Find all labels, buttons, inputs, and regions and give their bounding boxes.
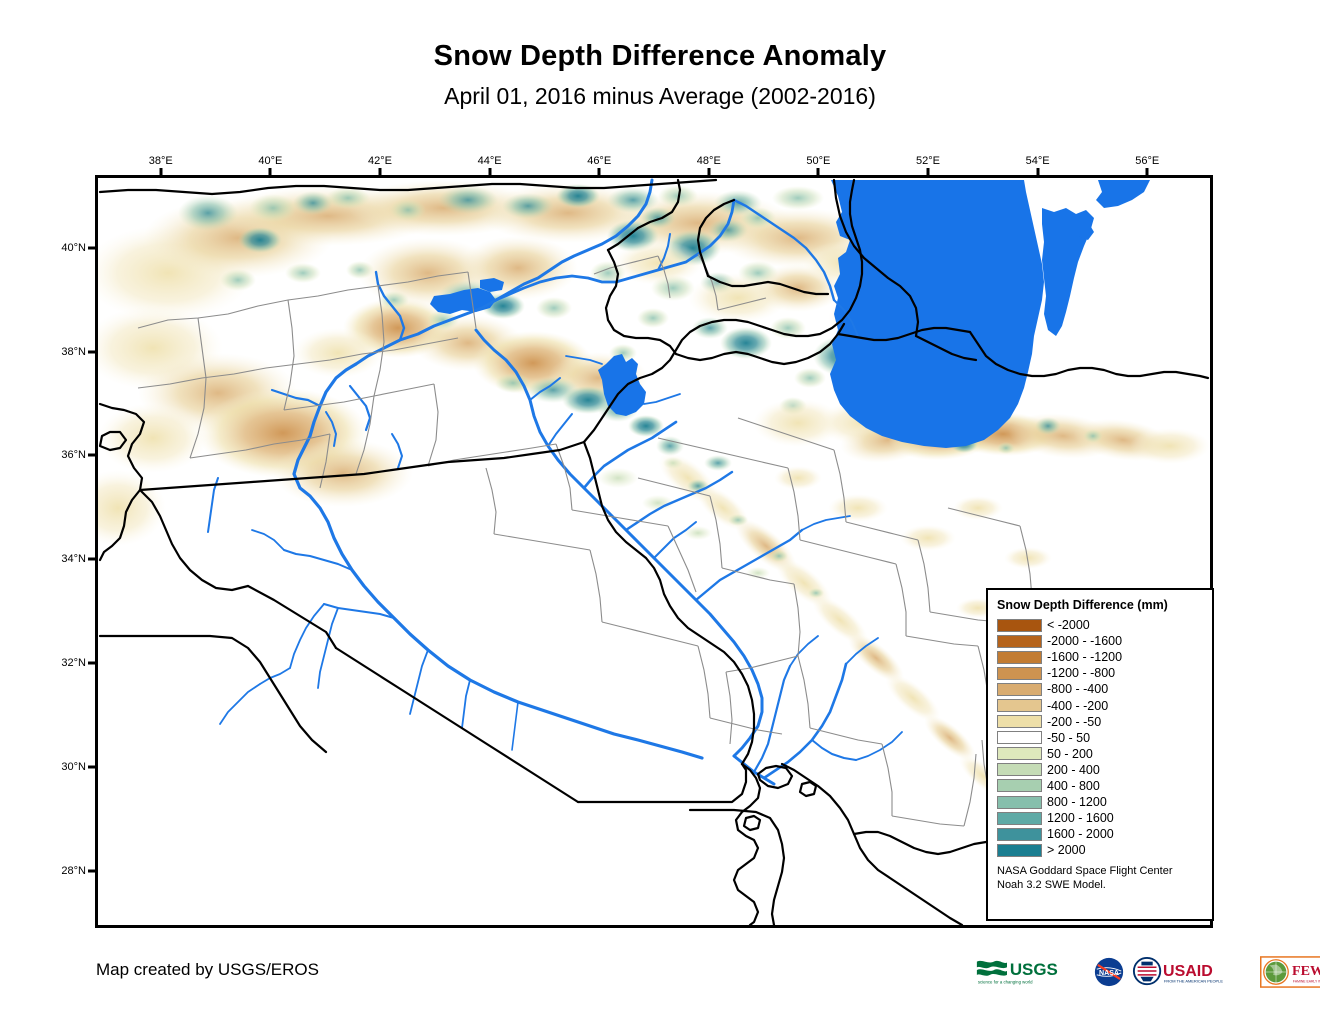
legend-entry: -200 - -50 bbox=[997, 714, 1203, 730]
legend-entry: 400 - 800 bbox=[997, 778, 1203, 794]
legend-label: -200 - -50 bbox=[1047, 715, 1101, 729]
longitude-tick-mark bbox=[1146, 168, 1149, 177]
latitude-tick-label: 30°N bbox=[48, 761, 86, 773]
longitude-tick-mark bbox=[707, 168, 710, 177]
latitude-tick-label: 32°N bbox=[48, 657, 86, 669]
legend-label: 1200 - 1600 bbox=[1047, 811, 1114, 825]
longitude-tick-mark bbox=[378, 168, 381, 177]
legend-entry: < -2000 bbox=[997, 617, 1203, 633]
legend-swatch bbox=[997, 731, 1042, 744]
legend-label: -400 - -200 bbox=[1047, 699, 1108, 713]
legend-swatch bbox=[997, 796, 1042, 809]
legend-label: -2000 - -1600 bbox=[1047, 634, 1122, 648]
latitude-tick-mark bbox=[88, 350, 97, 353]
legend-label: -1600 - -1200 bbox=[1047, 650, 1122, 664]
latitude-tick-mark bbox=[88, 246, 97, 249]
longitude-tick-mark bbox=[1036, 168, 1039, 177]
latitude-tick-label: 36°N bbox=[48, 449, 86, 461]
legend-footnote: NASA Goddard Space Flight Center Noah 3.… bbox=[997, 865, 1203, 893]
page-subtitle: April 01, 2016 minus Average (2002-2016) bbox=[0, 83, 1320, 109]
legend-label: > 2000 bbox=[1047, 843, 1086, 857]
usgs-logo[interactable]: USGS science for a changing world bbox=[975, 956, 1086, 988]
legend-entry: > 2000 bbox=[997, 842, 1203, 858]
legend-entry: 1200 - 1600 bbox=[997, 810, 1203, 826]
longitude-tick-mark bbox=[488, 168, 491, 177]
fewsnet-logo[interactable]: FEWS NET FAMINE EARLY WARNING SYSTEMS NE… bbox=[1260, 956, 1320, 988]
legend-label: -1200 - -800 bbox=[1047, 666, 1115, 680]
legend-title: Snow Depth Difference (mm) bbox=[997, 598, 1203, 612]
logo-bar: USGS science for a changing world NASA U… bbox=[975, 955, 1320, 989]
legend-swatch bbox=[997, 619, 1042, 632]
legend-swatch bbox=[997, 828, 1042, 841]
longitude-tick-label: 48°E bbox=[697, 155, 721, 167]
legend-entry: 1600 - 2000 bbox=[997, 826, 1203, 842]
legend-swatch bbox=[997, 779, 1042, 792]
nasa-logo-text: NASA bbox=[1099, 970, 1119, 977]
longitude-tick-label: 46°E bbox=[587, 155, 611, 167]
legend-label: 1600 - 2000 bbox=[1047, 827, 1114, 841]
legend-label: -800 - -400 bbox=[1047, 682, 1108, 696]
legend-entry: 800 - 1200 bbox=[997, 794, 1203, 810]
legend-footnote-line1: NASA Goddard Space Flight Center bbox=[997, 865, 1203, 879]
legend-entry: -800 - -400 bbox=[997, 681, 1203, 697]
longitude-tick-label: 42°E bbox=[368, 155, 392, 167]
nasa-logo[interactable]: NASA bbox=[1093, 956, 1125, 988]
map-credit: Map created by USGS/EROS bbox=[96, 960, 319, 980]
legend-entry: -400 - -200 bbox=[997, 697, 1203, 713]
title-block: Snow Depth Difference Anomaly April 01, … bbox=[0, 40, 1320, 110]
legend-swatch bbox=[997, 635, 1042, 648]
legend-entry-list: < -2000-2000 - -1600-1600 - -1200-1200 -… bbox=[997, 617, 1203, 858]
legend-swatch bbox=[997, 715, 1042, 728]
longitude-tick-mark bbox=[598, 168, 601, 177]
legend-label: 800 - 1200 bbox=[1047, 795, 1107, 809]
legend-entry: 50 - 200 bbox=[997, 746, 1203, 762]
legend-swatch bbox=[997, 812, 1042, 825]
legend-swatch bbox=[997, 844, 1042, 857]
longitude-tick-mark bbox=[159, 168, 162, 177]
longitude-tick-label: 50°E bbox=[806, 155, 830, 167]
latitude-tick-label: 40°N bbox=[48, 242, 86, 254]
longitude-tick-label: 52°E bbox=[916, 155, 940, 167]
longitude-tick-mark bbox=[269, 168, 272, 177]
longitude-tick-mark bbox=[817, 168, 820, 177]
longitude-tick-label: 54°E bbox=[1026, 155, 1050, 167]
legend-entry: -50 - 50 bbox=[997, 730, 1203, 746]
map-legend: Snow Depth Difference (mm) < -2000-2000 … bbox=[986, 588, 1214, 921]
legend-entry: -2000 - -1600 bbox=[997, 633, 1203, 649]
longitude-tick-label: 56°E bbox=[1135, 155, 1159, 167]
legend-swatch bbox=[997, 699, 1042, 712]
usgs-logo-text: USGS bbox=[1010, 960, 1058, 979]
legend-swatch bbox=[997, 651, 1042, 664]
longitude-tick-mark bbox=[927, 168, 930, 177]
usaid-logo[interactable]: USAID FROM THE AMERICAN PEOPLE bbox=[1132, 956, 1252, 988]
legend-entry: -1200 - -800 bbox=[997, 665, 1203, 681]
legend-label: 50 - 200 bbox=[1047, 747, 1093, 761]
latitude-tick-label: 34°N bbox=[48, 553, 86, 565]
legend-label: < -2000 bbox=[1047, 618, 1090, 632]
latitude-tick-mark bbox=[88, 662, 97, 665]
usgs-logo-tagline: science for a changing world bbox=[978, 979, 1033, 984]
latitude-tick-mark bbox=[88, 766, 97, 769]
latitude-tick-label: 38°N bbox=[48, 346, 86, 358]
legend-label: -50 - 50 bbox=[1047, 731, 1090, 745]
fewsnet-logo-text: FEWS NET bbox=[1292, 963, 1320, 979]
latitude-tick-label: 28°N bbox=[48, 865, 86, 877]
legend-entry: 200 - 400 bbox=[997, 762, 1203, 778]
legend-entry: -1600 - -1200 bbox=[997, 649, 1203, 665]
caspian-sea bbox=[830, 180, 1044, 448]
usaid-logo-text: USAID bbox=[1163, 963, 1213, 980]
latitude-tick-mark bbox=[88, 558, 97, 561]
legend-footnote-line2: Noah 3.2 SWE Model. bbox=[997, 879, 1203, 893]
latitude-tick-mark bbox=[88, 454, 97, 457]
legend-swatch bbox=[997, 747, 1042, 760]
legend-label: 200 - 400 bbox=[1047, 763, 1100, 777]
page-title: Snow Depth Difference Anomaly bbox=[0, 40, 1320, 73]
longitude-tick-label: 44°E bbox=[478, 155, 502, 167]
legend-swatch bbox=[997, 683, 1042, 696]
legend-label: 400 - 800 bbox=[1047, 779, 1100, 793]
longitude-tick-label: 40°E bbox=[258, 155, 282, 167]
latitude-tick-mark bbox=[88, 869, 97, 872]
legend-swatch bbox=[997, 763, 1042, 776]
fewsnet-logo-tagline: FAMINE EARLY WARNING SYSTEMS NETWORK bbox=[1292, 979, 1320, 983]
longitude-tick-label: 38°E bbox=[149, 155, 173, 167]
legend-swatch bbox=[997, 667, 1042, 680]
usaid-logo-tagline: FROM THE AMERICAN PEOPLE bbox=[1164, 978, 1223, 983]
